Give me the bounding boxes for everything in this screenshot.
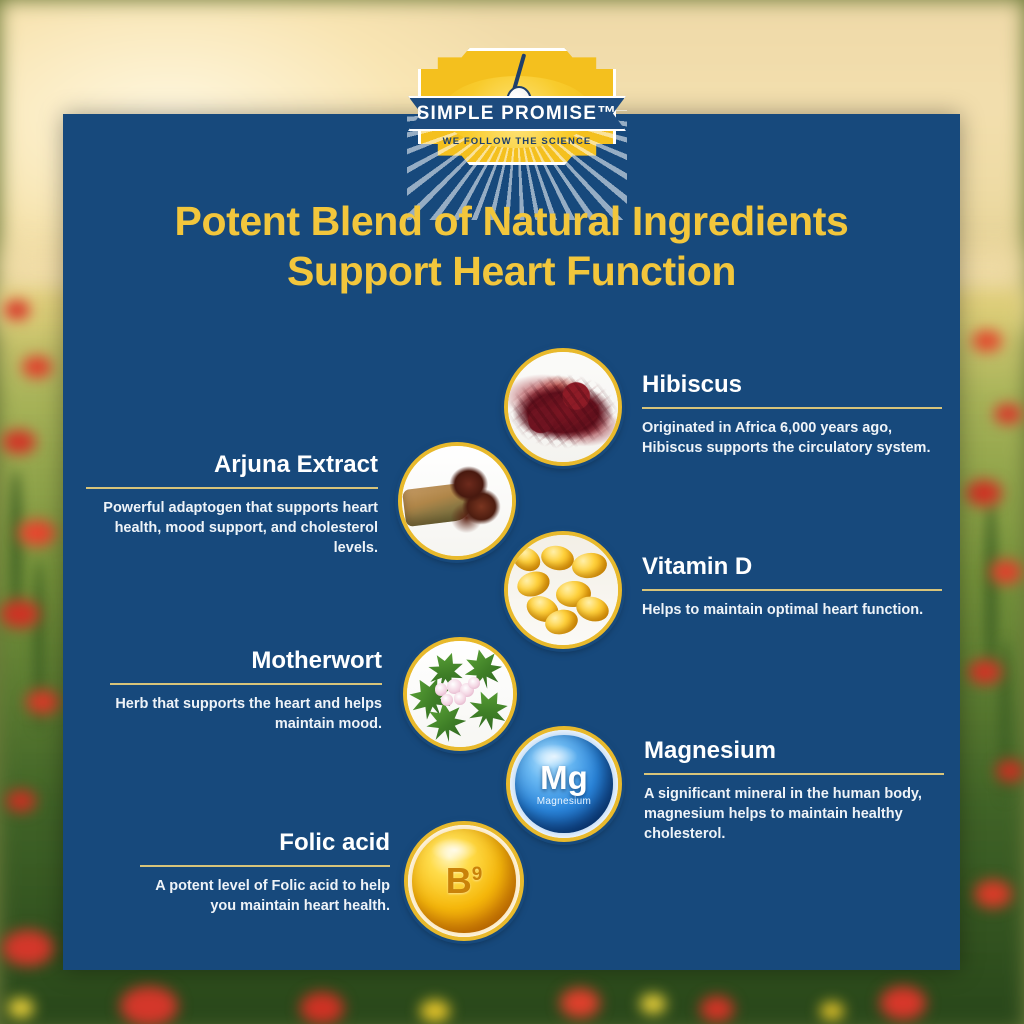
magnesium-badge-name: Magnesium <box>537 796 591 807</box>
poppy-flower <box>2 930 54 966</box>
brand-name: SIMPLE PROMISE <box>417 103 597 125</box>
poppy-flower <box>6 790 36 812</box>
poppy-flower <box>994 404 1022 424</box>
softgel-capsule <box>570 550 608 580</box>
magnesium-divider <box>644 773 944 775</box>
vitamin-d-photo <box>508 535 618 645</box>
magnesium-image-circle: Mg Magnesium <box>506 726 622 842</box>
softgel-capsule <box>539 543 576 574</box>
poppy-flower <box>26 690 60 714</box>
hibiscus-photo <box>508 352 618 462</box>
poppy-flower <box>972 330 1002 352</box>
folic-acid-description: A potent level of Folic acid to help you… <box>140 876 390 916</box>
b9-symbol: B9 <box>446 863 483 899</box>
motherwort-divider <box>110 683 382 685</box>
hibiscus-text-block: Hibiscus Originated in Africa 6,000 year… <box>642 372 942 458</box>
poppy-flower <box>2 430 36 454</box>
poppy-flower <box>996 760 1024 782</box>
vitamin-d-image-circle <box>504 531 622 649</box>
poppy-flower <box>560 988 600 1018</box>
arjuna-text-block: Arjuna Extract Powerful adaptogen that s… <box>86 452 378 558</box>
brand-tagline: WE FOLLOW THE SCIENCE <box>418 136 616 147</box>
brand-logo: SIMPLE PROMISE™ WE FOLLOW THE SCIENCE <box>418 48 616 165</box>
poppy-flower <box>990 560 1022 584</box>
motherwort-flower <box>454 692 467 705</box>
arjuna-description: Powerful adaptogen that supports heart h… <box>86 498 378 558</box>
motherwort-image-circle <box>403 637 517 751</box>
vitamin-d-text-block: Vitamin D Helps to maintain optimal hear… <box>642 554 942 620</box>
vitamin-d-description: Helps to maintain optimal heart function… <box>642 600 942 620</box>
grass-stalk <box>985 500 997 680</box>
motherwort-photo <box>407 641 513 747</box>
poppy-flower <box>974 880 1012 908</box>
b9-superscript: 9 <box>472 864 483 885</box>
folic-acid-text-block: Folic acid A potent level of Folic acid … <box>140 830 390 916</box>
yellow-flower <box>640 994 666 1014</box>
yellow-flower <box>8 998 34 1018</box>
magnesium-title: Magnesium <box>644 738 944 764</box>
grass-stalk <box>10 470 22 620</box>
poppy-flower <box>880 986 926 1020</box>
magnesium-symbol: Mg <box>540 761 588 794</box>
page-title: Potent Blend of Natural Ingredients Supp… <box>63 196 960 296</box>
hibiscus-title: Hibiscus <box>642 372 942 398</box>
arjuna-divider <box>86 487 378 489</box>
headline-line-1: Potent Blend of Natural Ingredients <box>63 196 960 246</box>
magnesium-sphere-icon: Mg Magnesium <box>515 735 612 832</box>
magnesium-photo: Mg Magnesium <box>510 730 618 838</box>
folic-acid-image-circle: B9 <box>404 821 524 941</box>
poppy-flower <box>300 992 344 1024</box>
motherwort-text-block: Motherwort Herb that supports the heart … <box>110 648 382 734</box>
magnesium-description: A significant mineral in the human body,… <box>644 784 944 844</box>
vitamin-d-divider <box>642 589 942 591</box>
motherwort-title: Motherwort <box>110 648 382 674</box>
folic-acid-divider <box>140 865 390 867</box>
poppy-flower <box>0 600 40 628</box>
motherwort-flower <box>441 694 453 706</box>
poppy-flower <box>700 996 734 1022</box>
headline-line-2: Support Heart Function <box>63 246 960 296</box>
folic-acid-photo: B9 <box>408 825 520 937</box>
b9-sphere-icon: B9 <box>412 829 515 932</box>
poppy-flower <box>18 520 56 546</box>
arjuna-image-circle <box>398 442 516 560</box>
poppy-flower <box>22 356 52 378</box>
motherwort-flower <box>468 677 480 689</box>
poppy-flower <box>4 300 30 320</box>
poppy-flower <box>966 480 1002 506</box>
yellow-flower <box>420 1000 450 1022</box>
brand-name-band: SIMPLE PROMISE™ <box>408 96 626 131</box>
hibiscus-divider <box>642 407 942 409</box>
vitamin-d-title: Vitamin D <box>642 554 942 580</box>
folic-acid-title: Folic acid <box>140 830 390 856</box>
arjuna-photo <box>402 446 512 556</box>
hibiscus-image-circle <box>504 348 622 466</box>
motherwort-description: Herb that supports the heart and helps m… <box>110 694 382 734</box>
poppy-flower <box>120 986 178 1024</box>
yellow-flower <box>820 1002 844 1020</box>
magnesium-text-block: Magnesium A significant mineral in the h… <box>644 738 944 844</box>
poppy-flower <box>968 660 1002 684</box>
arjuna-title: Arjuna Extract <box>86 452 378 478</box>
hibiscus-description: Originated in Africa 6,000 years ago, Hi… <box>642 418 942 458</box>
